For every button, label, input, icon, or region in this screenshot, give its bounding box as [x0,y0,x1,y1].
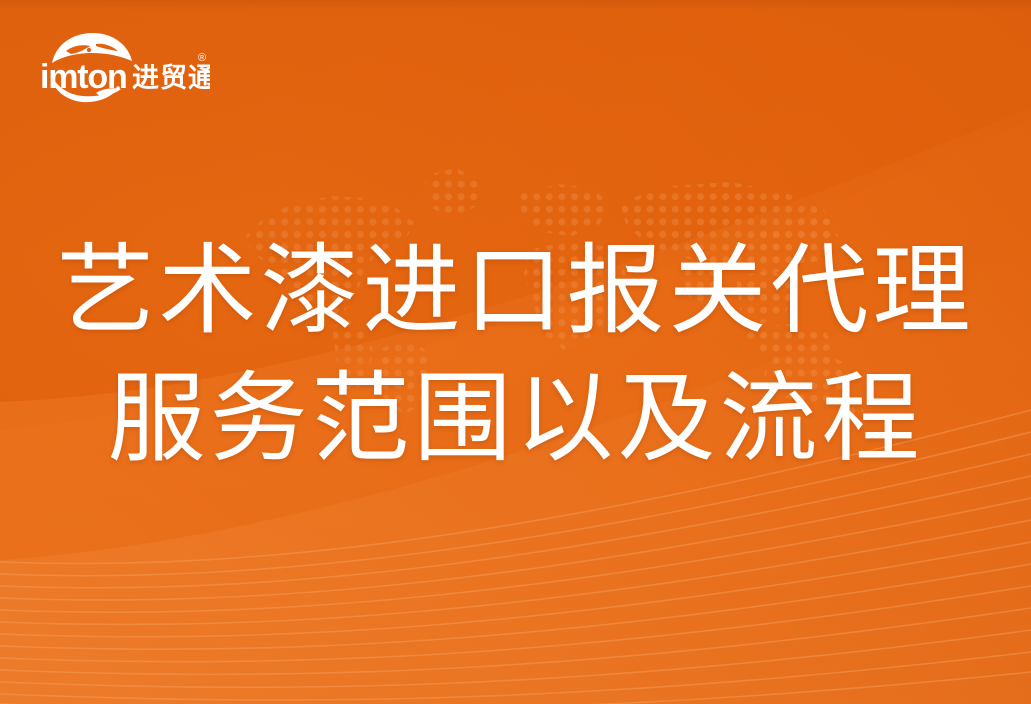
title-line-2: 服务范围以及流程 [0,356,1031,484]
logo-latin-text: imton [40,58,127,96]
logo-chinese-text: 进贸通 [132,63,210,93]
promo-banner: imton 进贸通 ® 艺术漆进口报关代理 服务范围以及流程 [0,0,1031,704]
page-title: 艺术漆进口报关代理 服务范围以及流程 [0,228,1031,484]
brand-logo[interactable]: imton 进贸通 ® [38,27,210,109]
logo-trademark-text: ® [198,52,206,64]
title-line-1: 艺术漆进口报关代理 [0,228,1031,356]
